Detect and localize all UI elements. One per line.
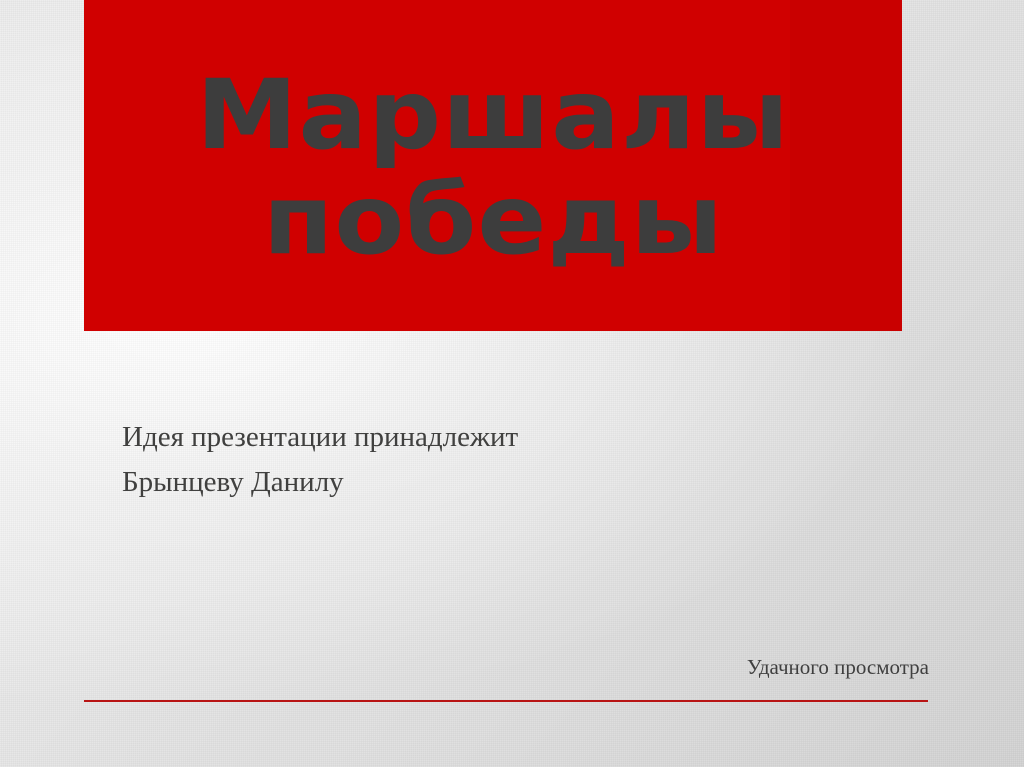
closing-note: Удачного просмотра [747,655,929,680]
slide-title-line-1: Маршалы [196,68,789,162]
slide-title-line-2: победы [263,173,724,267]
title-banner: Маршалы победы [84,0,902,331]
bottom-divider-rule [84,700,928,702]
slide-subtitle-line-1: Идея презентации принадлежит [122,415,762,460]
slide-subtitle: Идея презентации принадлежит Брынцеву Да… [122,415,762,505]
slide-subtitle-line-2: Брынцеву Данилу [122,460,762,505]
presentation-title-slide: Маршалы победы Идея презентации принадле… [0,0,1024,767]
